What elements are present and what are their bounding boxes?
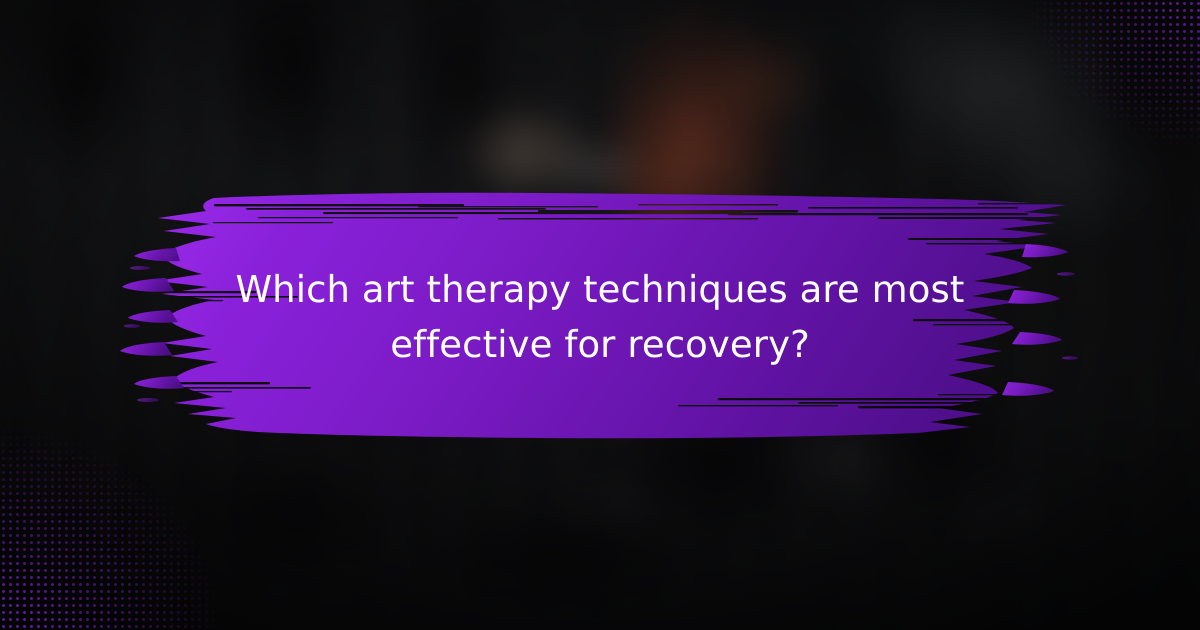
social-share-card: Which art therapy techniques are most ef…	[0, 0, 1200, 630]
headline-text: Which art therapy techniques are most ef…	[150, 262, 1050, 372]
